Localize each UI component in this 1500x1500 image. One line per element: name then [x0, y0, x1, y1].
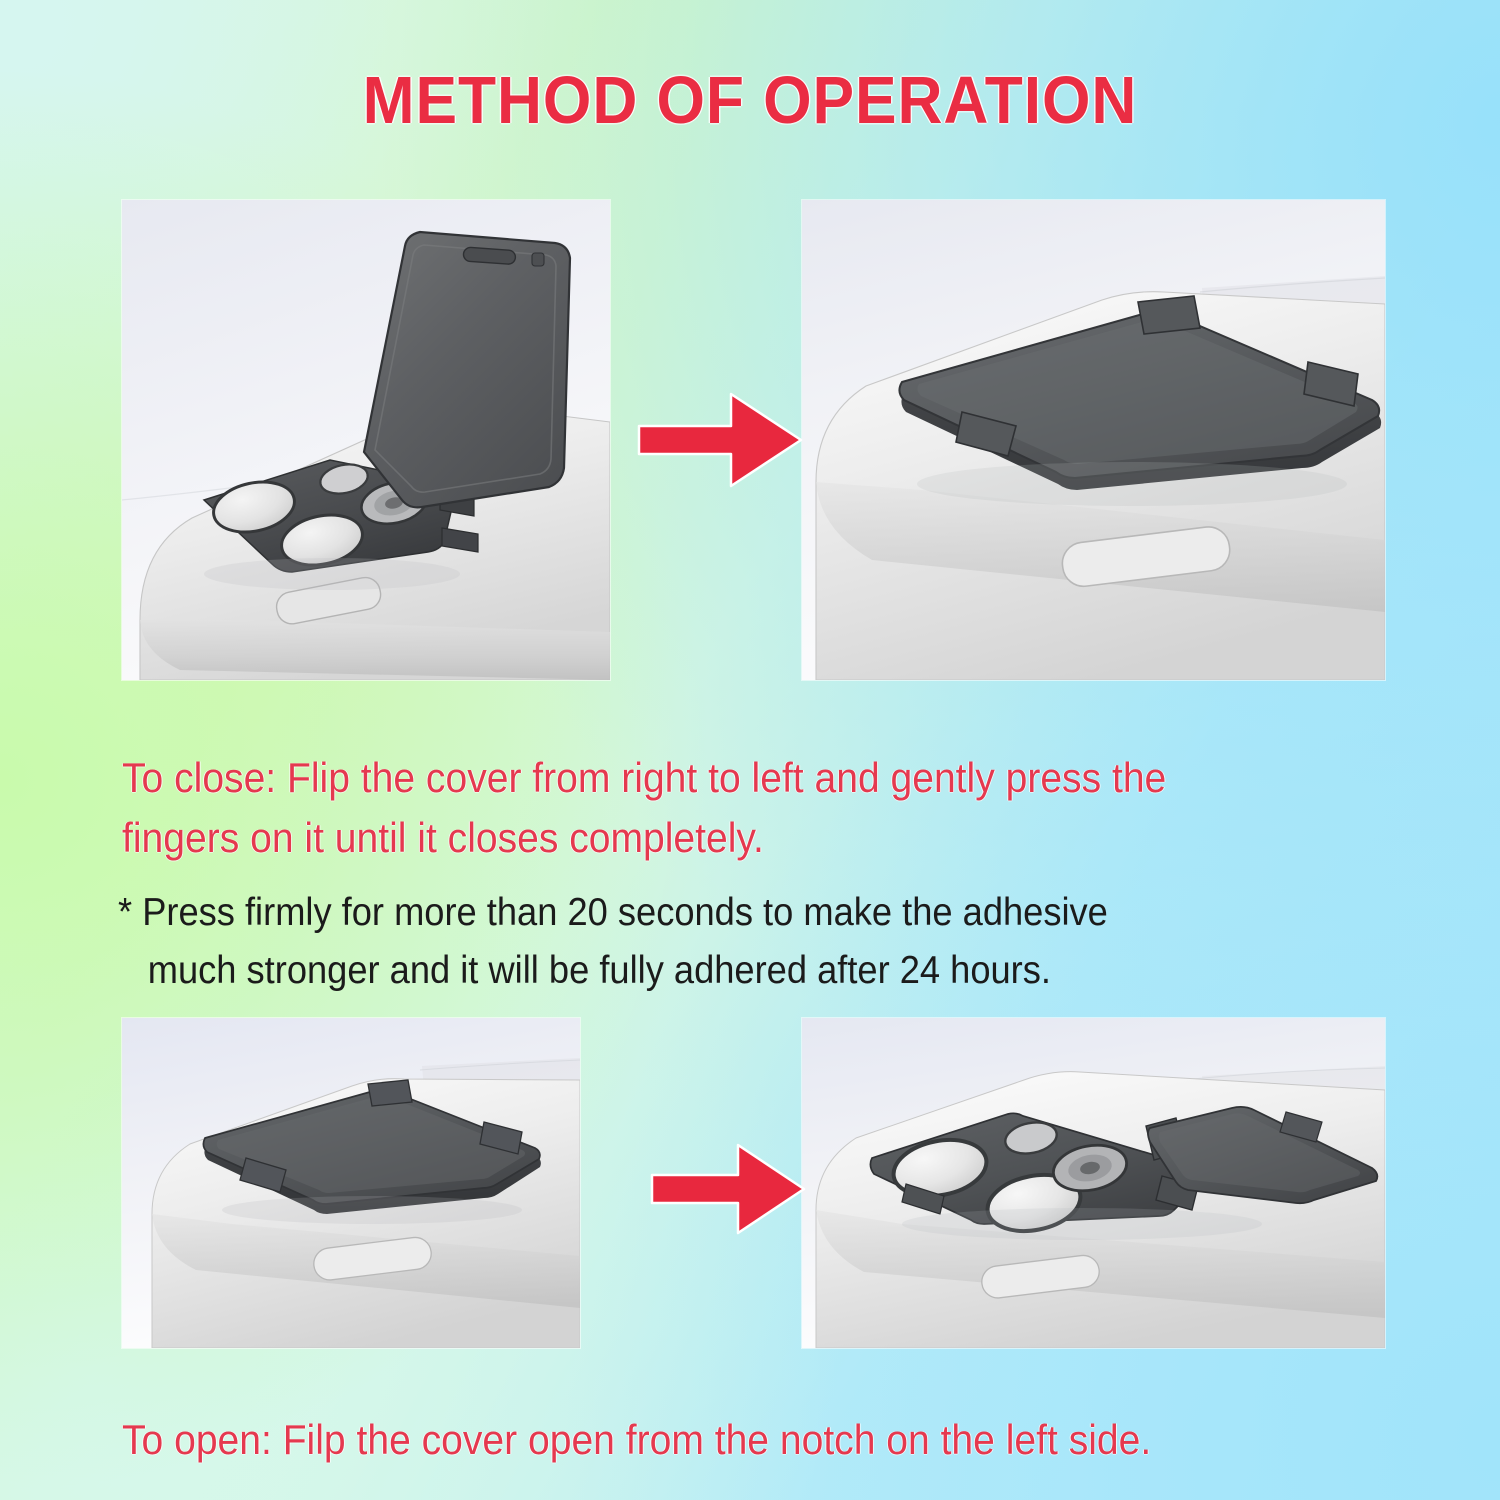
instruction-close-line2: fingers on it until it closes completely…: [122, 808, 1443, 868]
arrow-right-icon-step-3-to-4: [648, 1140, 808, 1238]
arrow-right-glyph-2: [648, 1140, 808, 1238]
page-title: METHOD OF OPERATION: [53, 62, 1448, 139]
step-image-2-cover-closed: [802, 200, 1385, 680]
instruction-close: To close: Flip the cover from right to l…: [122, 748, 1443, 867]
note-line1: * Press firmly for more than 20 seconds …: [118, 884, 1439, 942]
cover-notch-tab-top: [1138, 296, 1200, 334]
instruction-open: To open: Filp the cover open from the no…: [122, 1410, 1443, 1470]
render-cover-open-flat: [802, 1018, 1385, 1348]
step-image-3-cover-closed: [122, 1018, 580, 1348]
render-cover-open-upright: [122, 200, 610, 680]
note-line2: much stronger and it will be fully adher…: [118, 942, 1439, 1000]
instruction-open-line: To open: Filp the cover open from the no…: [122, 1410, 1443, 1470]
note-adhesive: * Press firmly for more than 20 seconds …: [118, 884, 1439, 999]
instruction-close-line1: To close: Flip the cover from right to l…: [122, 748, 1443, 808]
arrow-right-icon-step-1-to-2: [635, 388, 805, 492]
cover-notch: [463, 247, 516, 265]
arrow-right-glyph: [635, 388, 805, 492]
render-cover-closed-bottom: [122, 1018, 580, 1348]
cover-notch-tab-top: [368, 1080, 412, 1106]
step-image-4-cover-open-flat: [802, 1018, 1385, 1348]
step-image-1-cover-open-upright: [122, 200, 610, 680]
render-cover-closed-top: [802, 200, 1385, 680]
